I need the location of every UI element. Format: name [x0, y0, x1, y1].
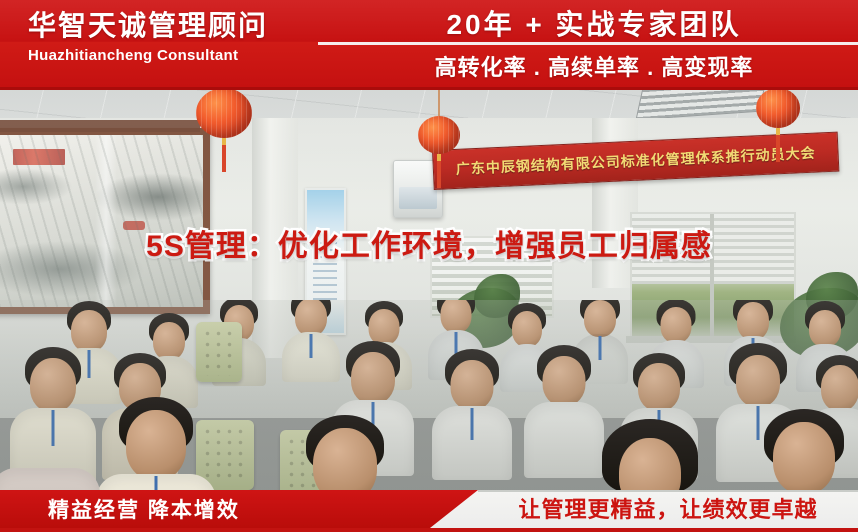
person-head: [512, 311, 542, 347]
person-head: [30, 358, 76, 412]
lantern-body: [756, 88, 800, 128]
person-head: [351, 352, 395, 404]
red-lantern: [418, 116, 460, 154]
painting-top-frame: [0, 120, 200, 132]
person-head: [773, 422, 835, 494]
person-head: [543, 356, 586, 406]
painting-seal: [13, 149, 65, 165]
footer-slogan-left: 精益经营 降本增效: [48, 494, 240, 524]
main-title: 5S管理：优化工作环境，增强员工归属感: [0, 221, 858, 265]
footer-bottom-rule: [0, 528, 858, 532]
lantern-body: [418, 116, 460, 154]
lantern-cord: [438, 90, 440, 116]
person-head: [737, 302, 769, 340]
person-head: [736, 355, 780, 407]
audience-member: [432, 352, 512, 474]
red-lantern: [756, 88, 800, 128]
person-head: [441, 300, 472, 333]
lantern-tassel: [222, 138, 226, 172]
header-bottom-edge: [0, 87, 858, 90]
header-slogan-primary: 20年 + 实战专家团队: [0, 3, 858, 43]
person-head: [661, 307, 692, 343]
footer-bar: 精益经营 降本增效 让管理更精益，让绩效更卓越: [0, 490, 858, 532]
header-slogan-secondary: 高转化率 . 高续单率 . 高变现率: [0, 50, 858, 82]
person-head: [71, 310, 107, 352]
header-bar: 华智天诚管理顾问 Huazhitiancheng Consultant 20年 …: [0, 0, 858, 90]
person-head: [638, 363, 680, 411]
lantern-body: [196, 88, 252, 138]
red-lantern: [196, 88, 252, 138]
chair: [196, 322, 242, 382]
person-head: [821, 365, 858, 411]
person-head: [295, 300, 327, 336]
lantern-tassel: [776, 128, 780, 162]
promo-banner: 广东中辰钢结构有限公司标准化管理体系推行动员大会: [0, 0, 858, 532]
person-head: [809, 310, 841, 347]
person-lanyard: [310, 334, 313, 358]
person-head: [584, 300, 616, 337]
person-head: [126, 410, 186, 480]
person-head: [153, 322, 185, 360]
footer-slogan-right: 让管理更精益，让绩效更卓越: [478, 492, 858, 524]
person-head: [451, 360, 494, 410]
person-head: [369, 309, 400, 345]
person-lanyard: [471, 408, 474, 440]
lantern-tassel: [437, 154, 441, 188]
wall-banner-text: 广东中辰钢结构有限公司标准化管理体系推行动员大会: [455, 143, 816, 179]
